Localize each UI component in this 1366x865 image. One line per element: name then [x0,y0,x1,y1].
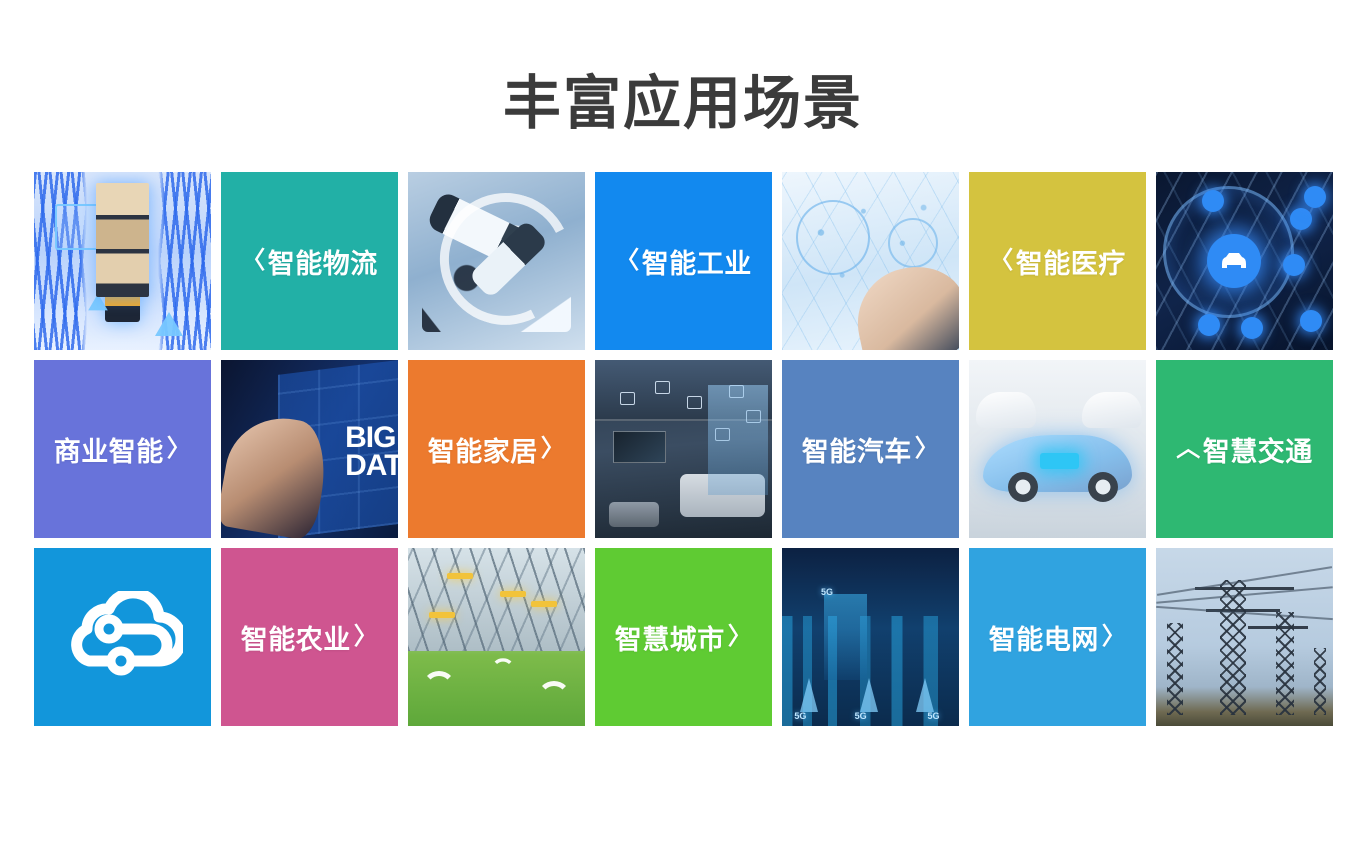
tile-label-text: 智能医疗 [1016,242,1126,281]
tile-warehouse-photo[interactable] [34,172,211,350]
tile-smart-logistics[interactable]: 〈 智能物流 [221,172,398,350]
tile-label-group: 智能汽车 〉 [802,430,940,469]
iot-device-icon [687,396,702,409]
mail-node-icon [1198,314,1220,336]
hand-hologram-medical-photo [782,172,959,350]
smart-home-living-room-photo [595,360,772,538]
robot-arm-segment [468,219,549,299]
car-hub-icon [1207,234,1261,288]
ottoman [609,502,659,527]
tile-label-group: 智能农业 〉 [241,618,379,657]
5g-tower-icon [860,678,878,712]
bike-node-icon [1283,254,1305,276]
tile-label-group: 商业智能 〉 [54,430,192,469]
tile-medical-hologram-photo[interactable] [782,172,959,350]
chevron-right-icon: 〉 [915,437,940,461]
background-car [976,392,1036,428]
tile-smart-healthcare[interactable]: 〈 智能医疗 [969,172,1146,350]
big-data-caption: BIGDAT [345,424,398,479]
tile-industrial-robot-photo[interactable] [408,172,585,350]
hologram-ring [796,200,870,275]
hand-pointing [221,409,333,538]
tile-label-text: 智慧交通 [1203,430,1313,469]
tile-label-group: 〈 智能物流 [241,242,378,281]
tile-label-group: ︿ 智慧交通 [1176,430,1313,469]
chevron-left-icon: 〈 [241,249,266,273]
chevron-left-icon: 〈 [989,249,1014,273]
5g-tag: 5G [928,711,940,721]
tile-label-text: 商业智能 [54,430,164,469]
electric-car-chassis-photo [969,360,1146,538]
5g-tower-icon [916,678,934,712]
hologram-ring [888,218,938,268]
chevron-right-icon: 〉 [541,437,566,461]
chevron-right-icon: 〉 [728,625,753,649]
tile-label-text: 智能工业 [642,242,752,281]
wall-television [613,431,666,463]
hand-silhouette [848,258,959,350]
big-data-screens-photo: BIGDAT [221,360,398,538]
scenario-grid: 〈 智能物流 〈 智能工业 [34,172,1366,726]
car-wheel [1008,472,1038,502]
tile-smart-city-photo[interactable]: 5G 5G 5G 5G [782,548,959,726]
iot-device-icon [746,410,761,423]
tile-power-pylons-photo[interactable] [1156,548,1333,726]
wifi-signal-icon [537,681,571,715]
iot-device-icon [655,381,670,394]
iot-device-icon [729,385,744,398]
tile-label-text: 智能物流 [268,242,378,281]
tile-label-group: 〈 智能医疗 [989,242,1126,281]
warehouse-agv-photo [34,172,211,350]
cloud-network-icon [63,591,183,683]
transmission-tower [1314,648,1326,716]
chevron-up-icon: ︿ [1176,437,1201,461]
tower-crossarm [1195,587,1294,590]
map-pin-node-icon [1202,190,1224,212]
tile-electric-car-photo[interactable] [969,360,1146,538]
tile-smart-agriculture[interactable]: 智能农业 〉 [221,548,398,726]
5g-tag: 5G [821,587,833,597]
warehouse-hud-overlay [55,204,136,250]
iot-device-icon [715,428,730,441]
iot-device-icon [620,392,635,405]
tile-smart-vehicle[interactable]: 智能汽车 〉 [782,360,959,538]
5g-tag: 5G [794,711,806,721]
traffic-network-night-photo [1156,172,1333,350]
tile-smart-grid[interactable]: 智能电网 〉 [969,548,1146,726]
robot-arm-segment [426,191,535,271]
tile-label-text: 智慧城市 [615,618,725,657]
city-skyline [824,594,866,679]
warning-triangle-icon [155,312,183,336]
page-title: 丰富应用场景 [0,72,1366,136]
tile-label-text: 智能农业 [241,618,351,657]
search-node-icon [1300,310,1322,332]
application-scenarios-page: 丰富应用场景 〈 智能物流 [0,0,1366,865]
tile-big-data-photo[interactable]: BIGDAT [221,360,398,538]
transmission-tower [1220,580,1246,715]
tile-smart-home[interactable]: 智能家居 〉 [408,360,585,538]
tile-smart-industry[interactable]: 〈 智能工业 [595,172,772,350]
tile-label-group: 智能家居 〉 [428,430,566,469]
chevron-right-icon: 〉 [167,437,192,461]
grow-lamp [500,591,526,597]
tile-cloud-network[interactable] [34,548,211,726]
truck-node-icon [1241,317,1263,339]
wifi-signal-icon [491,658,515,682]
chevron-left-icon: 〈 [615,249,640,273]
tile-label-group: 智能电网 〉 [989,618,1127,657]
car-wheel [1088,472,1118,502]
chevron-right-icon: 〉 [354,625,379,649]
tile-label-text: 智能汽车 [802,430,912,469]
ship-node-icon [1304,186,1326,208]
tile-label-text: 智能家居 [428,430,538,469]
tile-traffic-network-photo[interactable] [1156,172,1333,350]
tower-crossarm [1248,626,1308,629]
tile-greenhouse-photo[interactable] [408,548,585,726]
grow-lamp [429,612,455,618]
transmission-tower [1167,623,1183,716]
tile-smart-home-photo[interactable] [595,360,772,538]
agv-robot [105,293,140,321]
tile-label-group: 〈 智能工业 [615,242,752,281]
sofa [680,474,765,517]
tile-business-intelligence[interactable]: 商业智能 〉 [34,360,211,538]
grow-lamp [447,573,473,579]
bus-node-icon [1290,208,1312,230]
5g-tower-icon [800,678,818,712]
tile-smart-transportation[interactable]: ︿ 智慧交通 [1156,360,1333,538]
background-car [1082,392,1142,428]
tile-label-text: 智能电网 [989,618,1099,657]
warning-triangle-icon [88,294,108,311]
tile-label-group: 智慧城市 〉 [615,618,753,657]
power-transmission-pylons-photo [1156,548,1333,726]
tile-smart-city[interactable]: 智慧城市 〉 [595,548,772,726]
smart-greenhouse-photo [408,548,585,726]
wifi-signal-icon [422,671,456,705]
industrial-robot-arm-photo [408,172,585,350]
smart-city-5g-night-photo: 5G 5G 5G 5G [782,548,959,726]
chevron-right-icon: 〉 [1102,625,1127,649]
battery-glow [1040,453,1079,469]
grow-lamp [531,601,557,607]
5g-tag: 5G [855,711,867,721]
